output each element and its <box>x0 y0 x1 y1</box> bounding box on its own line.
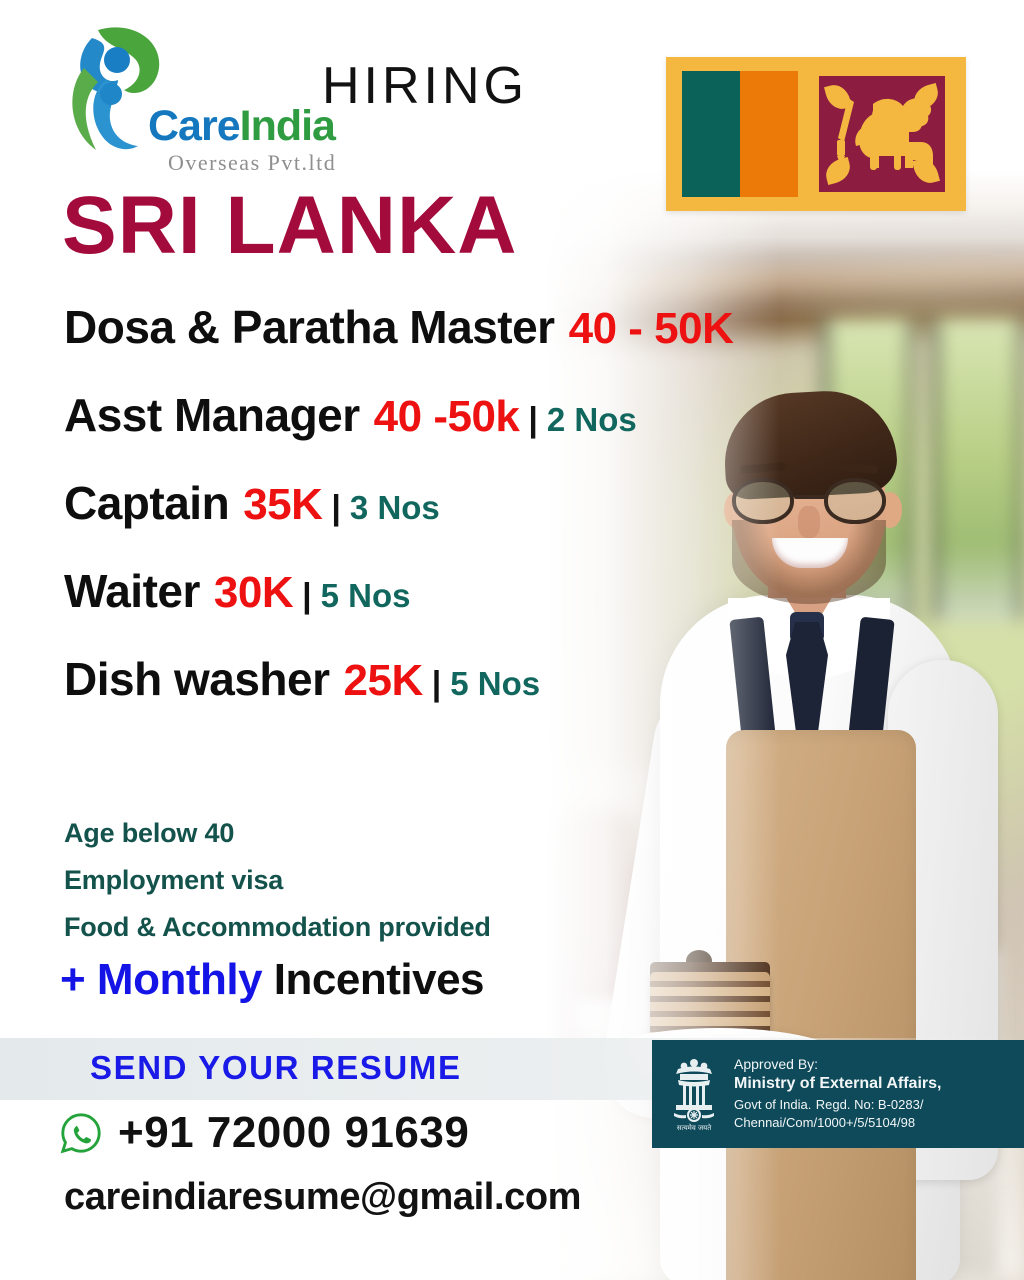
logo-care-text: Care <box>148 102 240 150</box>
flag-orange-stripe <box>740 71 798 197</box>
approval-line-1: Approved By: <box>734 1056 941 1074</box>
incentive-highlight: + Monthly <box>60 955 262 1004</box>
job-title: Dosa & Paratha Master <box>64 300 555 354</box>
job-list: Dosa & Paratha Master 40 - 50K Asst Mana… <box>64 300 1004 740</box>
job-separator: | <box>302 577 312 616</box>
conditions-list: Age below 40 Employment visa Food & Acco… <box>64 818 491 959</box>
ashoka-emblem-icon: सत्यमेव जयते <box>666 1055 722 1133</box>
approval-regd-text: Regd. No: B-0283/ <box>816 1097 924 1112</box>
send-resume-label: SEND YOUR RESUME <box>90 1049 462 1087</box>
job-title: Captain <box>64 476 229 530</box>
phone-number[interactable]: +91 72000 91639 <box>118 1108 469 1158</box>
incentive-rest: Incentives <box>274 955 484 1004</box>
approval-line-3: Govt of India. Regd. No: B-0283/ <box>734 1095 941 1115</box>
logo-subtitle: Overseas Pvt.ltd <box>168 150 336 176</box>
job-vacancy-count: 3 Nos <box>350 489 440 527</box>
approval-line-2: Ministry of External Affairs, <box>734 1074 941 1094</box>
condition-item: Employment visa <box>64 865 491 896</box>
job-separator: | <box>331 489 341 528</box>
flag-green-stripe <box>682 71 740 197</box>
page-title: SRI LANKA <box>62 185 517 267</box>
job-salary: 35K <box>243 480 322 530</box>
poster-content: CareIndia Overseas Pvt.ltd HIRING <box>0 0 1024 1280</box>
hiring-label: HIRING <box>322 56 528 116</box>
job-title: Waiter <box>64 564 200 618</box>
sri-lanka-flag-icon <box>666 57 966 211</box>
care-india-logo: CareIndia Overseas Pvt.ltd <box>62 24 300 156</box>
whatsapp-icon[interactable] <box>58 1110 104 1156</box>
approval-line-4: Chennai/Com/1000+/5/5104/98 <box>734 1115 941 1132</box>
job-vacancy-count: 5 Nos <box>321 577 411 615</box>
logo-india-text: India <box>240 102 335 150</box>
approval-text: Approved By: Ministry of External Affair… <box>734 1056 941 1131</box>
flag-maroon-field <box>814 71 950 197</box>
job-salary: 30K <box>214 568 293 618</box>
job-salary: 40 - 50K <box>569 304 734 354</box>
job-row: Dish washer 25K | 5 Nos <box>64 652 1004 706</box>
email-address[interactable]: careindiaresume@gmail.com <box>64 1176 581 1219</box>
job-title: Asst Manager <box>64 388 360 442</box>
job-separator: | <box>528 401 538 440</box>
flag-gap <box>798 71 814 197</box>
recruitment-poster: CareIndia Overseas Pvt.ltd HIRING <box>0 0 1024 1280</box>
job-row: Waiter 30K | 5 Nos <box>64 564 1004 618</box>
job-salary: 40 -50k <box>374 392 520 442</box>
job-salary: 25K <box>344 656 423 706</box>
job-separator: | <box>432 665 442 704</box>
incentive-line: + Monthly Incentives <box>60 955 484 1005</box>
approval-badge: सत्यमेव जयते Approved By: Ministry of Ex… <box>652 1040 1024 1148</box>
flag-lion-icon <box>818 86 946 182</box>
approval-govt-text: Govt of India. <box>734 1097 811 1112</box>
condition-item: Age below 40 <box>64 818 491 849</box>
job-vacancy-count: 5 Nos <box>450 665 540 703</box>
job-row: Asst Manager 40 -50k | 2 Nos <box>64 388 1004 442</box>
job-vacancy-count: 2 Nos <box>547 401 637 439</box>
logo-wordmark: CareIndia <box>148 102 335 151</box>
whatsapp-contact-row[interactable]: +91 72000 91639 <box>58 1108 469 1158</box>
job-row: Dosa & Paratha Master 40 - 50K <box>64 300 1004 354</box>
poster-header: CareIndia Overseas Pvt.ltd HIRING <box>62 24 528 156</box>
svg-text:सत्यमेव जयते: सत्यमेव जयते <box>677 1123 712 1132</box>
job-row: Captain 35K | 3 Nos <box>64 476 1004 530</box>
job-title: Dish washer <box>64 652 330 706</box>
condition-item: Food & Accommodation provided <box>64 912 491 943</box>
